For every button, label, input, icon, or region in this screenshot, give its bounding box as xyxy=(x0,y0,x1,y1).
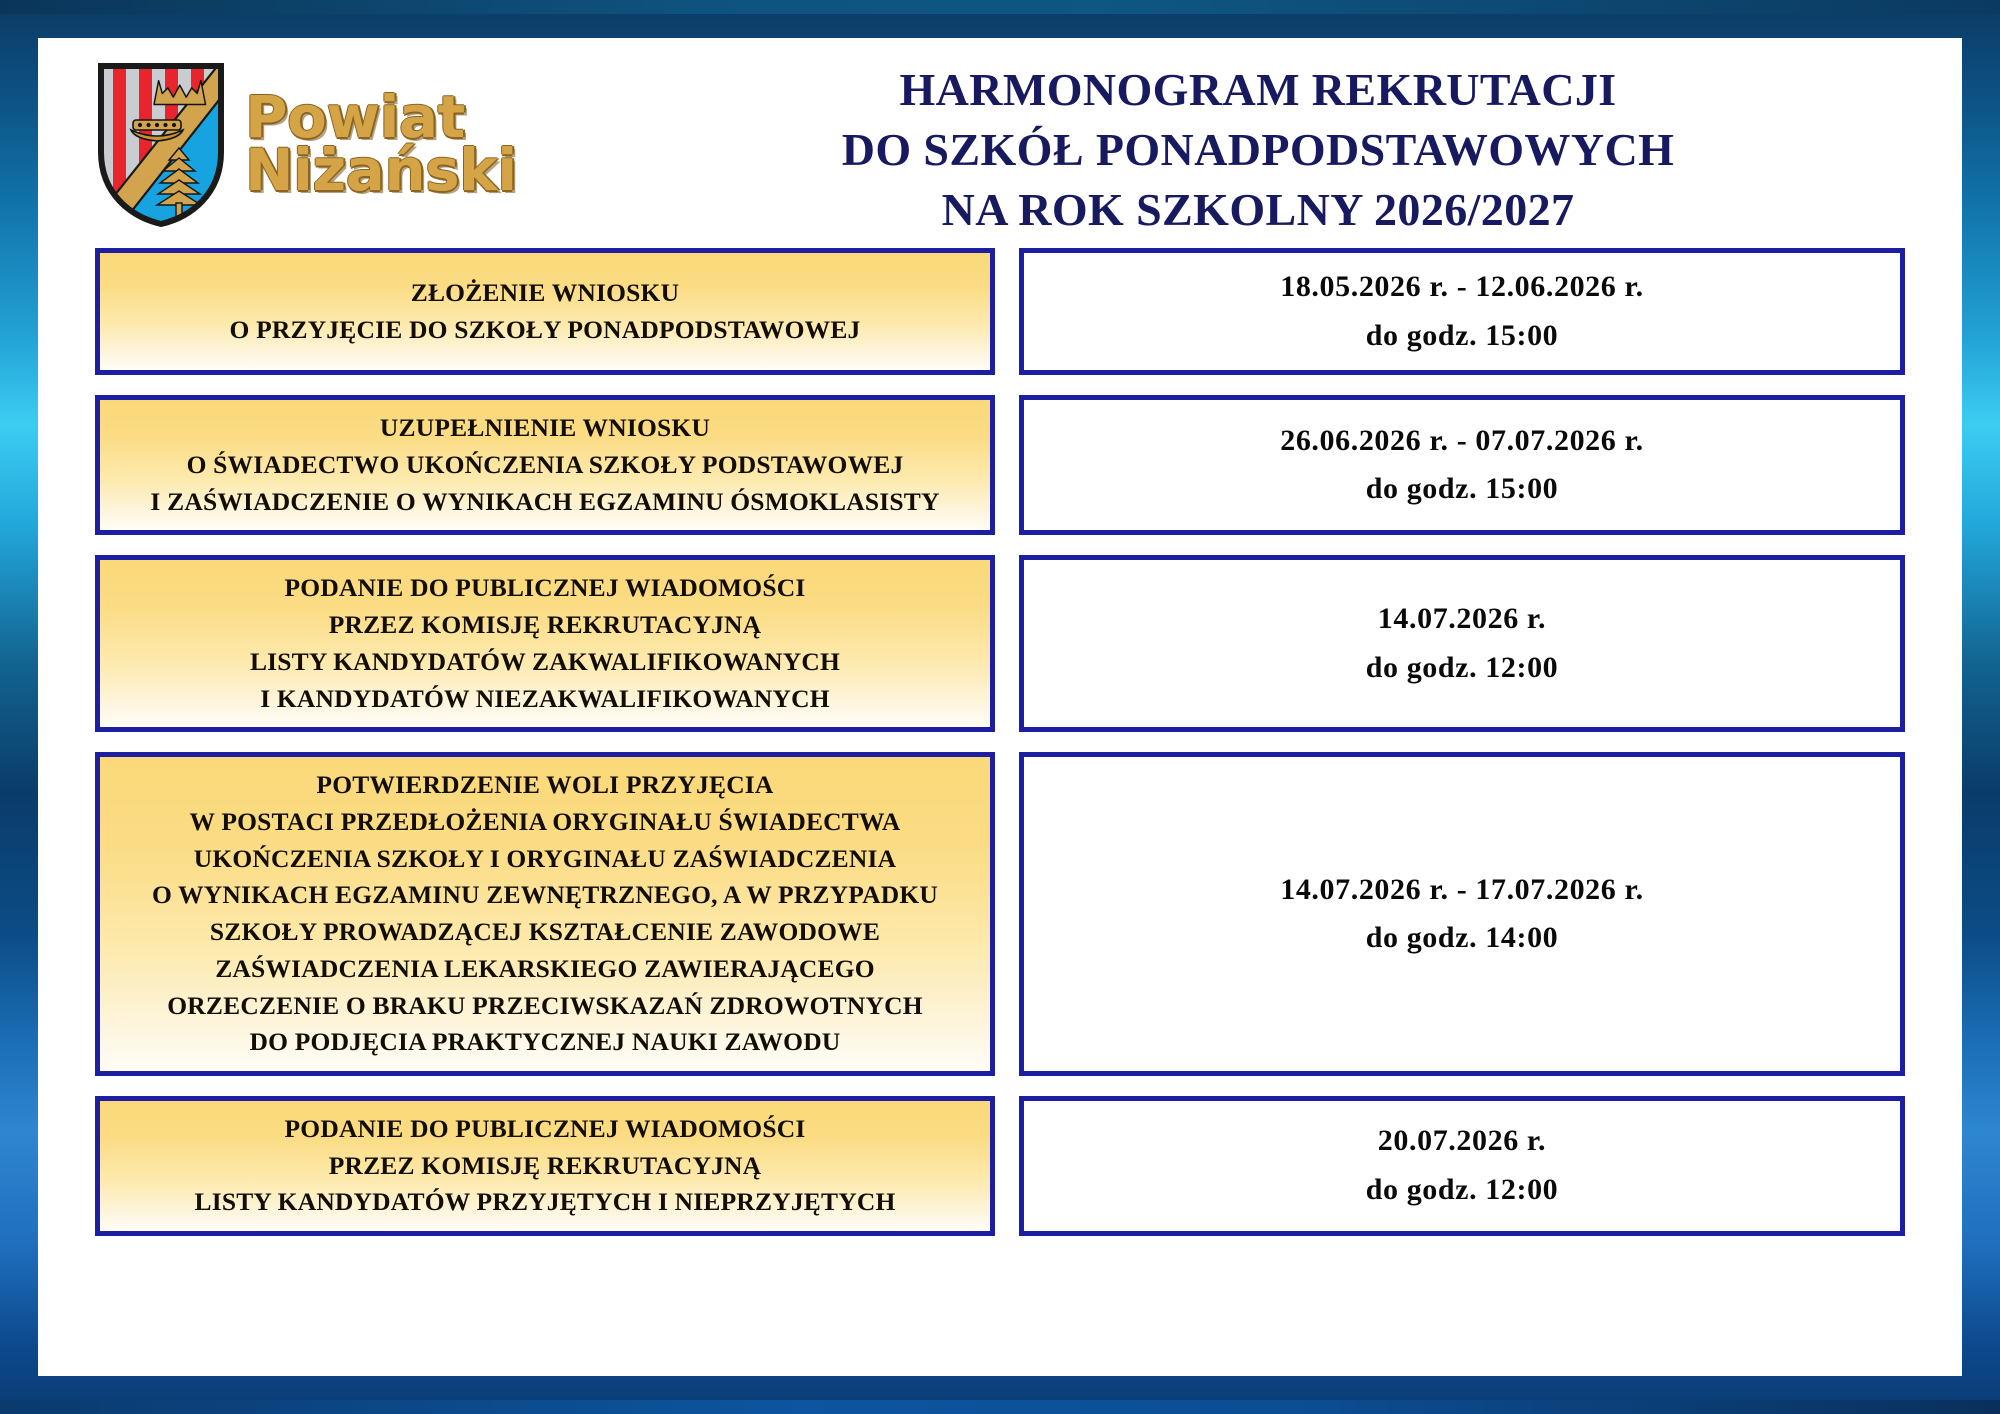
schedule-stage-line: PODANIE DO PUBLICZNEJ WIADOMOŚCI xyxy=(250,570,840,607)
title-line-3: NA ROK SZKOLNY 2026/2027 xyxy=(678,180,1838,240)
schedule-date-line: do godz. 12:00 xyxy=(1366,1166,1559,1215)
schedule-row: ZŁOŻENIE WNIOSKUO PRZYJĘCIE DO SZKOŁY PO… xyxy=(38,248,1962,375)
schedule-stage-cell: UZUPEŁNIENIE WNIOSKUO ŚWIADECTWO UKOŃCZE… xyxy=(95,395,995,535)
schedule-row: PODANIE DO PUBLICZNEJ WIADOMOŚCIPRZEZ KO… xyxy=(38,1096,1962,1236)
title-line-2: DO SZKÓŁ PONADPODSTAWOWYCH xyxy=(678,120,1838,180)
schedule-date-line: 20.07.2026 r. xyxy=(1366,1117,1559,1166)
schedule-stage-line: LISTY KANDYDATÓW ZAKWALIFIKOWANYCH xyxy=(250,644,840,681)
schedule-date-cell: 18.05.2026 r. - 12.06.2026 r.do godz. 15… xyxy=(1019,248,1905,375)
schedule-date-text: 18.05.2026 r. - 12.06.2026 r.do godz. 15… xyxy=(1280,263,1644,360)
schedule-stage-line: UKOŃCZENIA SZKOŁY I ORYGINAŁU ZAŚWIADCZE… xyxy=(152,841,938,878)
brand-logo: Powiat Niżański xyxy=(95,60,517,228)
schedule-date-text: 26.06.2026 r. - 07.07.2026 r.do godz. 15… xyxy=(1280,417,1644,514)
schedule-stage-line: I ZAŚWIADCZENIE O WYNIKACH EGZAMINU ÓSMO… xyxy=(150,484,939,521)
schedule-stage-line: DO PODJĘCIA PRAKTYCZNEJ NAUKI ZAWODU xyxy=(152,1024,938,1061)
schedule-stage-text: UZUPEŁNIENIE WNIOSKUO ŚWIADECTWO UKOŃCZE… xyxy=(150,410,939,520)
frame-top-band xyxy=(0,0,2000,14)
schedule-date-cell: 26.06.2026 r. - 07.07.2026 r.do godz. 15… xyxy=(1019,395,1905,535)
schedule-row: PODANIE DO PUBLICZNEJ WIADOMOŚCIPRZEZ KO… xyxy=(38,555,1962,732)
schedule-date-text: 20.07.2026 r.do godz. 12:00 xyxy=(1366,1117,1559,1214)
schedule-date-line: do godz. 15:00 xyxy=(1280,312,1644,361)
title-line-1: HARMONOGRAM REKRUTACJI xyxy=(678,60,1838,120)
schedule-stage-text: PODANIE DO PUBLICZNEJ WIADOMOŚCIPRZEZ KO… xyxy=(250,570,840,717)
schedule-stage-line: O PRZYJĘCIE DO SZKOŁY PONADPODSTAWOWEJ xyxy=(229,312,860,349)
schedule-date-cell: 20.07.2026 r.do godz. 12:00 xyxy=(1019,1096,1905,1236)
schedule-table: ZŁOŻENIE WNIOSKUO PRZYJĘCIE DO SZKOŁY PO… xyxy=(38,248,1962,1256)
schedule-stage-line: O ŚWIADECTWO UKOŃCZENIA SZKOŁY PODSTAWOW… xyxy=(150,447,939,484)
schedule-stage-line: LISTY KANDYDATÓW PRZYJĘTYCH I NIEPRZYJĘT… xyxy=(195,1184,896,1221)
schedule-stage-cell: PODANIE DO PUBLICZNEJ WIADOMOŚCIPRZEZ KO… xyxy=(95,1096,995,1236)
schedule-date-line: 18.05.2026 r. - 12.06.2026 r. xyxy=(1280,263,1644,312)
schedule-date-line: 14.07.2026 r. xyxy=(1366,595,1559,644)
schedule-stage-line: ZŁOŻENIE WNIOSKU xyxy=(229,275,860,312)
schedule-stage-line: POTWIERDZENIE WOLI PRZYJĘCIA xyxy=(152,767,938,804)
schedule-stage-line: W POSTACI PRZEDŁOŻENIA ORYGINAŁU ŚWIADEC… xyxy=(152,804,938,841)
schedule-stage-text: POTWIERDZENIE WOLI PRZYJĘCIAW POSTACI PR… xyxy=(152,767,938,1061)
schedule-row: POTWIERDZENIE WOLI PRZYJĘCIAW POSTACI PR… xyxy=(38,752,1962,1076)
schedule-stage-line: PRZEZ KOMISJĘ REKRUTACYJNĄ xyxy=(250,607,840,644)
schedule-stage-line: ORZECZENIE O BRAKU PRZECIWSKAZAŃ ZDROWOT… xyxy=(152,988,938,1025)
schedule-stage-line: ZAŚWIADCZENIA LEKARSKIEGO ZAWIERAJĄCEGO xyxy=(152,951,938,988)
schedule-stage-cell: ZŁOŻENIE WNIOSKUO PRZYJĘCIE DO SZKOŁY PO… xyxy=(95,248,995,375)
schedule-date-line: do godz. 14:00 xyxy=(1280,914,1644,963)
schedule-stage-line: SZKOŁY PROWADZĄCEJ KSZTAŁCENIE ZAWODOWE xyxy=(152,914,938,951)
poster-root: Powiat Niżański HARMONOGRAM REKRUTACJI D… xyxy=(0,0,2000,1414)
schedule-stage-cell: PODANIE DO PUBLICZNEJ WIADOMOŚCIPRZEZ KO… xyxy=(95,555,995,732)
schedule-stage-line: PODANIE DO PUBLICZNEJ WIADOMOŚCI xyxy=(195,1111,896,1148)
page-title: HARMONOGRAM REKRUTACJI DO SZKÓŁ PONADPOD… xyxy=(678,60,1838,239)
schedule-date-text: 14.07.2026 r.do godz. 12:00 xyxy=(1366,595,1559,692)
frame-bottom-band xyxy=(0,1400,2000,1414)
schedule-date-line: do godz. 15:00 xyxy=(1280,465,1644,514)
schedule-date-line: 26.06.2026 r. - 07.07.2026 r. xyxy=(1280,417,1644,466)
coat-of-arms-icon xyxy=(95,60,227,228)
schedule-stage-line: PRZEZ KOMISJĘ REKRUTACYJNĄ xyxy=(195,1148,896,1185)
schedule-stage-text: PODANIE DO PUBLICZNEJ WIADOMOŚCIPRZEZ KO… xyxy=(195,1111,896,1221)
schedule-stage-line: UZUPEŁNIENIE WNIOSKU xyxy=(150,410,939,447)
schedule-date-line: do godz. 12:00 xyxy=(1366,644,1559,693)
brand-line-2: Niżański xyxy=(245,144,517,197)
poster-header: Powiat Niżański HARMONOGRAM REKRUTACJI D… xyxy=(38,38,1962,253)
schedule-date-cell: 14.07.2026 r.do godz. 12:00 xyxy=(1019,555,1905,732)
schedule-stage-line: O WYNIKACH EGZAMINU ZEWNĘTRZNEGO, A W PR… xyxy=(152,877,938,914)
schedule-date-cell: 14.07.2026 r. - 17.07.2026 r.do godz. 14… xyxy=(1019,752,1905,1076)
schedule-stage-line: I KANDYDATÓW NIEZAKWALIFIKOWANYCH xyxy=(250,681,840,718)
schedule-stage-cell: POTWIERDZENIE WOLI PRZYJĘCIAW POSTACI PR… xyxy=(95,752,995,1076)
content-card: Powiat Niżański HARMONOGRAM REKRUTACJI D… xyxy=(38,38,1962,1376)
schedule-date-line: 14.07.2026 r. - 17.07.2026 r. xyxy=(1280,866,1644,915)
brand-wordmark: Powiat Niżański xyxy=(245,91,517,198)
schedule-row: UZUPEŁNIENIE WNIOSKUO ŚWIADECTWO UKOŃCZE… xyxy=(38,395,1962,535)
schedule-stage-text: ZŁOŻENIE WNIOSKUO PRZYJĘCIE DO SZKOŁY PO… xyxy=(229,275,860,348)
schedule-date-text: 14.07.2026 r. - 17.07.2026 r.do godz. 14… xyxy=(1280,866,1644,963)
